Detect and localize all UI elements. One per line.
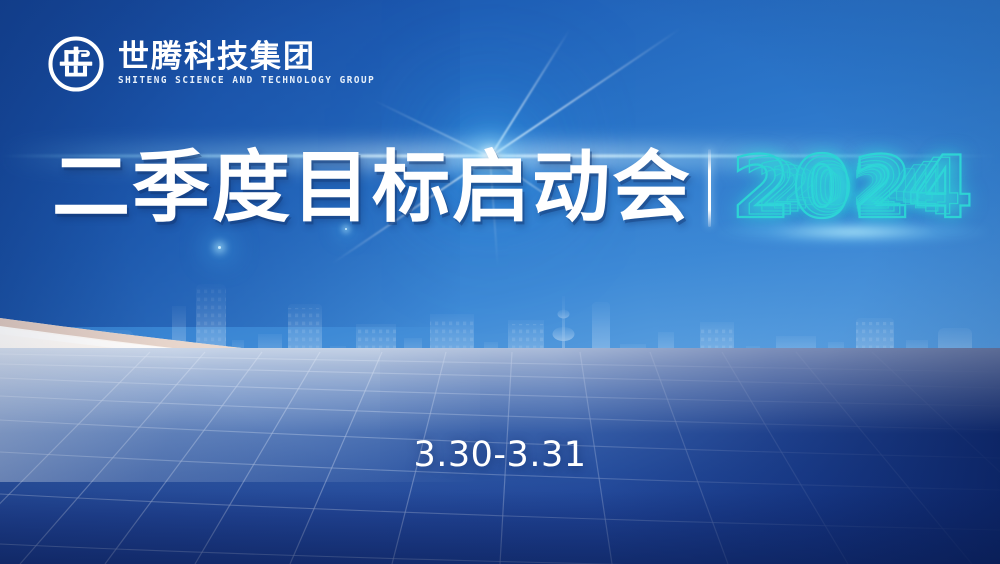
- secondary-flare-icon: [218, 246, 221, 249]
- page-title: 二季度目标启动会: [52, 149, 692, 227]
- floor-bottom-shading: [0, 491, 1000, 564]
- floor-sheen: [0, 348, 1000, 434]
- brand-name-cn: 世腾科技集团: [118, 42, 375, 73]
- year-outline-base: 2024: [731, 138, 974, 238]
- brand-text: 世腾科技集团 SHITENG SCIENCE AND TECHNOLOGY GR…: [118, 42, 375, 85]
- brand-name-en: SHITENG SCIENCE AND TECHNOLOGY GROUP: [118, 76, 375, 85]
- shiteng-circular-seal-logo-icon: [47, 35, 105, 93]
- headline-block: 二季度目标启动会 2024 2024 2024 2024 2024: [52, 148, 974, 229]
- event-date-text: 3.30-3.31: [414, 435, 587, 475]
- event-date: 3.30-3.31: [0, 438, 1000, 473]
- title-divider: [708, 149, 711, 227]
- year-badge: 2024 2024 2024 2024 2024: [731, 148, 974, 229]
- event-banner: 世腾科技集团 SHITENG SCIENCE AND TECHNOLOGY GR…: [0, 0, 1000, 564]
- brand-logo: 世腾科技集团 SHITENG SCIENCE AND TECHNOLOGY GR…: [47, 35, 375, 93]
